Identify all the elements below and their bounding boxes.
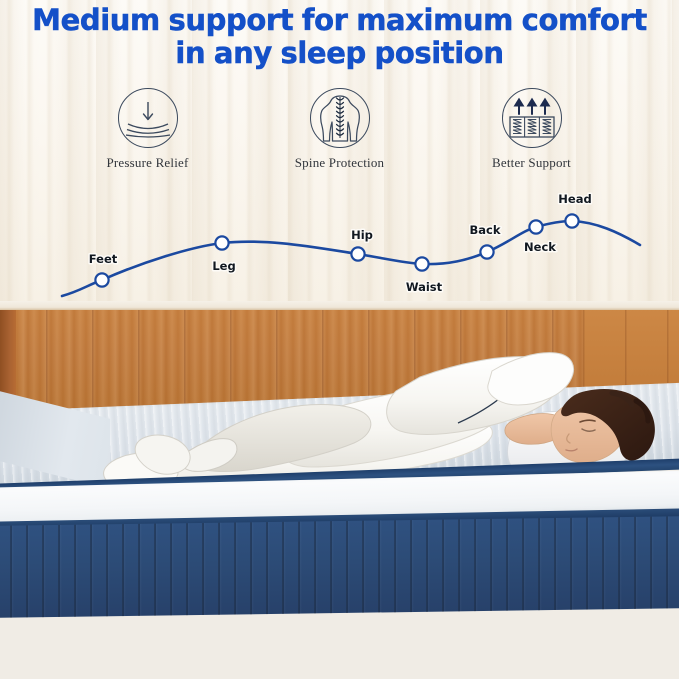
heading-line-1: Medium support for maximum comfort: [32, 3, 647, 37]
better-support-icon: [502, 88, 562, 148]
feature-list: Pressure Relief: [0, 88, 679, 176]
info-panel: Medium support for maximum comfort in an…: [0, 0, 679, 301]
marker-feet: [95, 273, 108, 286]
marker-back: [480, 245, 493, 258]
chart-label-neck: Neck: [524, 240, 556, 254]
chart-label-feet: Feet: [89, 252, 118, 266]
feature-label: Better Support: [452, 155, 612, 171]
body-contour-chart: Feet Leg Hip Waist Back Neck Head: [0, 176, 679, 301]
marker-hip: [351, 247, 364, 260]
mattress-pocket-spring-base: [0, 516, 679, 618]
feature-better-support: Better Support: [452, 88, 612, 171]
marker-waist: [415, 257, 428, 270]
chart-label-back: Back: [470, 223, 501, 237]
marker-head: [565, 214, 578, 227]
heading-line-2: in any sleep position: [0, 37, 679, 70]
feature-label: Pressure Relief: [68, 155, 228, 171]
feature-label: Spine Protection: [260, 155, 420, 171]
pressure-relief-icon: [118, 88, 178, 148]
product-photo: [0, 301, 679, 679]
chart-label-leg: Leg: [212, 259, 235, 273]
marker-leg: [215, 236, 228, 249]
spine-protection-icon: [310, 88, 370, 148]
chart-label-hip: Hip: [351, 228, 373, 242]
feature-pressure-relief: Pressure Relief: [68, 88, 228, 171]
contour-svg: Feet Leg Hip Waist Back Neck Head: [0, 176, 679, 301]
chart-label-waist: Waist: [406, 280, 443, 294]
marker-neck: [529, 220, 542, 233]
contour-labels: Feet Leg Hip Waist Back Neck Head: [89, 192, 592, 294]
page-title: Medium support for maximum comfort in an…: [0, 4, 679, 70]
product-infographic: Medium support for maximum comfort in an…: [0, 0, 679, 679]
chart-label-head: Head: [558, 192, 591, 206]
feature-spine-protection: Spine Protection: [260, 88, 420, 171]
